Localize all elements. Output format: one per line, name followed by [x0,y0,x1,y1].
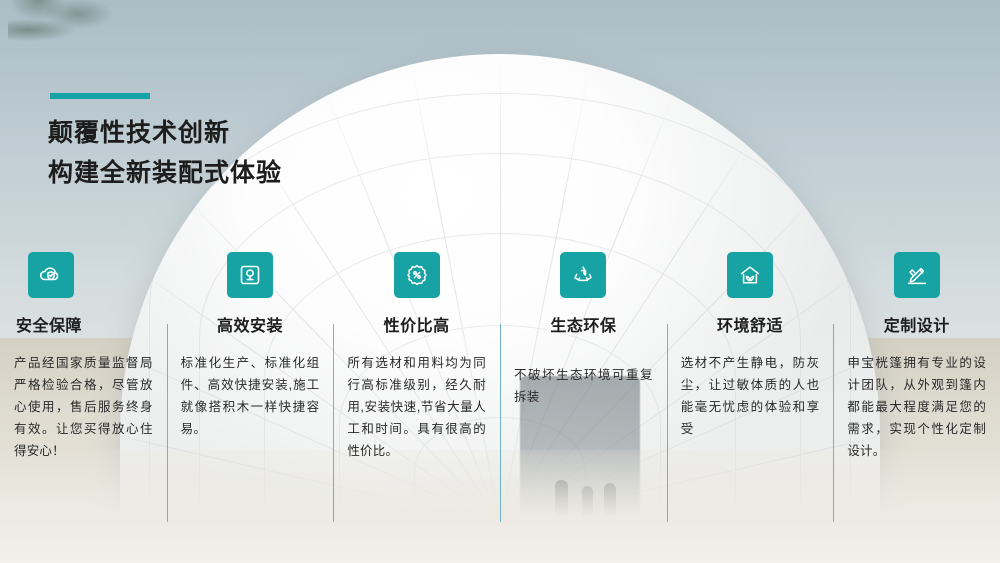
feature-body: 选材不产生静电，防灰尘，让过敏体质的人也能毫无忧虑的体验和享受 [681,352,820,440]
accent-bar [50,93,150,99]
feature-column-installation: 高效安装 标准化生产、标准化组件、高效快捷安装,施工就像搭积木一样快捷容易。 [167,252,334,542]
feature-column-comfort: 环境舒适 选材不产生静电，防灰尘，让过敏体质的人也能毫无忧虑的体验和享受 [667,252,834,542]
feature-title: 定制设计 [847,312,986,336]
page-title: 颠覆性技术创新 构建全新装配式体验 [48,113,282,193]
feature-title: 高效安装 [181,312,320,336]
headline-line-2: 构建全新装配式体验 [48,159,282,187]
house-leaf-icon [727,252,773,298]
recycle-leaf-icon [560,252,606,298]
gear-percent-icon [394,252,440,298]
feature-title: 性价比高 [347,312,486,336]
feature-columns: 安全保障 产品经国家质量监督局严格检验合格，尽管放心使用，售后服务终身有效。让您… [0,252,1000,542]
feature-column-eco: 生态环保 不破坏生态环境可重复拆装 [500,252,667,542]
feature-column-value: 性价比高 所有选材和用料均为同行高标准级别，经久耐用,安装快速,节省大量人工和时… [333,252,500,542]
slide-canvas: 颠覆性技术创新 构建全新装配式体验 安全保障 产品经国家质量监督局严格检验合格，… [0,0,1000,563]
pencil-ruler-icon [894,252,940,298]
feature-title: 生态环保 [514,312,653,336]
headline-line-1: 颠覆性技术创新 [48,119,230,147]
feature-body: 产品经国家质量监督局严格检验合格，尽管放心使用，售后服务终身有效。让您买得放心住… [14,352,153,462]
feature-body: 标准化生产、标准化组件、高效快捷安装,施工就像搭积木一样快捷容易。 [181,352,320,440]
feature-body: 所有选材和用料均为同行高标准级别，经久耐用,安装快速,节省大量人工和时间。具有很… [347,352,486,462]
cloud-shield-icon [28,252,74,298]
feature-body: 不破坏生态环境可重复拆装 [514,364,653,408]
feature-column-custom-design: 定制设计 申宝桄篷拥有专业的设计团队，从外观到篷内都能最大程度满足您的需求，实现… [833,252,1000,542]
feature-column-safety: 安全保障 产品经国家质量监督局严格检验合格，尽管放心使用，售后服务终身有效。让您… [0,252,167,542]
feature-body: 申宝桄篷拥有专业的设计团队，从外观到篷内都能最大程度满足您的需求，实现个性化定制… [847,352,986,462]
puzzle-assembly-icon [227,252,273,298]
feature-title: 安全保障 [14,312,153,336]
feature-title: 环境舒适 [681,312,820,336]
